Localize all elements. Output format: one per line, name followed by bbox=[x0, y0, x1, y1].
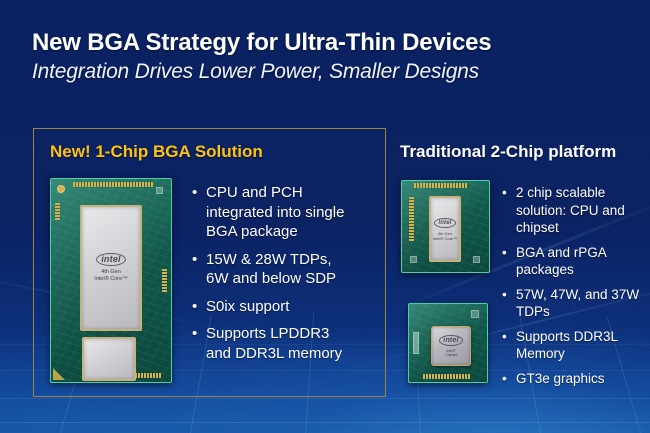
gold-pads-right bbox=[162, 269, 167, 292]
gold-pads-top bbox=[414, 183, 467, 188]
left-panel-heading: New! 1-Chip BGA Solution bbox=[50, 142, 263, 162]
right-bullet-list: 2 chip scalable solution: CPU and chipse… bbox=[502, 184, 642, 394]
intel-logo-icon: intel bbox=[96, 253, 126, 266]
chipset-heat-spreader: intel Intel® Chipset bbox=[431, 326, 471, 366]
list-item: S0ix support bbox=[192, 297, 357, 317]
pch-die bbox=[82, 337, 136, 381]
gold-pads-left bbox=[409, 197, 414, 241]
page-title: New BGA Strategy for Ultra-Thin Devices bbox=[32, 29, 491, 57]
list-item: 2 chip scalable solution: CPU and chipse… bbox=[502, 184, 642, 237]
marker-square-left bbox=[410, 256, 417, 263]
list-item: Supports DDR3L Memory bbox=[502, 328, 642, 363]
list-item: CPU and PCH integrated into single BGA p… bbox=[192, 183, 357, 242]
cpu-die: intel 4th Gen Intel® Core™ bbox=[429, 196, 461, 262]
traditional-chipset-package-image: intel Intel® Chipset bbox=[408, 303, 488, 383]
intel-logo-icon: intel bbox=[439, 335, 462, 346]
die-label-line1: 4th Gen bbox=[101, 269, 121, 276]
left-bullet-list: CPU and PCH integrated into single BGA p… bbox=[192, 183, 357, 371]
list-item: 15W & 28W TDPs, 6W and below SDP bbox=[192, 250, 357, 289]
die-label-line2: Chipset bbox=[445, 353, 457, 358]
marker-square-right bbox=[473, 256, 480, 263]
traditional-cpu-package-image: intel 4th Gen Intel® Core™ bbox=[401, 180, 490, 273]
gold-pads-bottom bbox=[423, 374, 470, 379]
intel-logo-icon: intel bbox=[434, 218, 455, 228]
gold-pads-top bbox=[73, 182, 153, 187]
marker-square bbox=[156, 187, 163, 194]
gold-pads-left bbox=[55, 203, 60, 220]
page-subtitle: Integration Drives Lower Power, Smaller … bbox=[32, 60, 479, 84]
list-item: 57W, 47W, and 37W TDPs bbox=[502, 286, 642, 321]
list-item: Supports LPDDR3 and DDR3L memory bbox=[192, 324, 357, 363]
right-panel-heading: Traditional 2-Chip platform bbox=[400, 142, 616, 162]
die-label-line2: Intel® Core™ bbox=[94, 276, 127, 283]
marker-square bbox=[471, 310, 479, 318]
cpu-die: intel 4th Gen Intel® Core™ bbox=[80, 205, 142, 331]
list-item: BGA and rPGA packages bbox=[502, 244, 642, 279]
list-item: GT3e graphics bbox=[502, 370, 642, 388]
edge-marker bbox=[413, 332, 419, 354]
die-label-line2: Intel® Core™ bbox=[433, 236, 457, 241]
corner-marker bbox=[53, 368, 65, 380]
alignment-dot bbox=[57, 185, 65, 193]
one-chip-bga-package-image: intel 4th Gen Intel® Core™ bbox=[50, 178, 172, 383]
slide-canvas: New BGA Strategy for Ultra-Thin Devices … bbox=[0, 0, 650, 433]
